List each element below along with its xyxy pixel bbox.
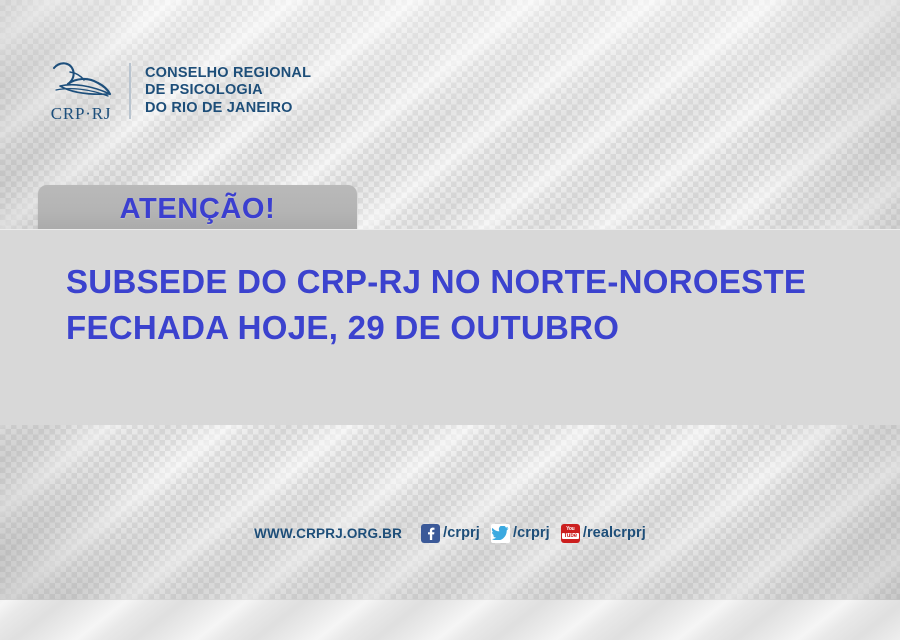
twitter-handle: /crprj — [513, 525, 550, 541]
org-name-line-2: DE PSICOLOGIA — [145, 82, 311, 100]
youtube-icon: You Tube — [561, 524, 580, 543]
logo-monogram: CRP·RJ — [51, 104, 112, 124]
headline-band: SUBSEDE DO CRP-RJ NO NORTE-NOROESTE FECH… — [0, 229, 900, 425]
youtube-link[interactable]: You Tube /realcrprj — [561, 524, 646, 543]
org-name-line-3: DO RIO DE JANEIRO — [145, 100, 311, 118]
website-url[interactable]: WWW.CRPRJ.ORG.BR — [254, 526, 402, 541]
footer-bar: WWW.CRPRJ.ORG.BR /crprj /crprj You Tube … — [0, 519, 900, 547]
youtube-icon-top: You — [566, 527, 574, 532]
logo-mark: CRP·RJ — [45, 59, 117, 124]
attention-label: ATENÇÃO! — [120, 193, 276, 226]
twitter-icon — [491, 524, 510, 543]
headline-text: SUBSEDE DO CRP-RJ NO NORTE-NOROESTE FECH… — [66, 259, 806, 351]
headline-line-2: FECHADA HOJE, 29 DE OUTUBRO — [66, 305, 806, 351]
twitter-link[interactable]: /crprj — [491, 524, 550, 543]
organization-name: CONSELHO REGIONAL DE PSICOLOGIA DO RIO D… — [145, 65, 311, 118]
crp-rj-logo: CRP·RJ CONSELHO REGIONAL DE PSICOLOGIA D… — [45, 55, 311, 127]
headline-line-1: SUBSEDE DO CRP-RJ NO NORTE-NOROESTE — [66, 259, 806, 305]
bird-wing-icon — [46, 59, 116, 103]
youtube-handle: /realcrprj — [583, 525, 646, 541]
attention-banner: ATENÇÃO! — [38, 185, 357, 233]
facebook-link[interactable]: /crprj — [421, 524, 480, 543]
logo-divider — [129, 63, 131, 119]
facebook-handle: /crprj — [443, 525, 480, 541]
facebook-icon — [421, 524, 440, 543]
org-name-line-1: CONSELHO REGIONAL — [145, 65, 311, 83]
youtube-icon-bottom: Tube — [562, 533, 579, 539]
